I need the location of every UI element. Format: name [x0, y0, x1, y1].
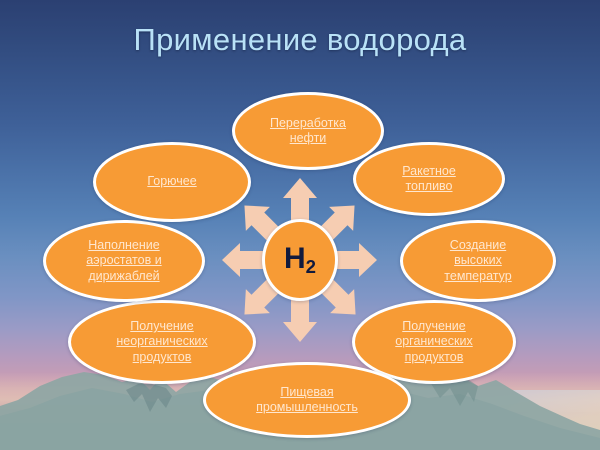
node-line: дирижаблей	[86, 269, 161, 284]
hydrogen-applications-diagram: H2 Переработка нефти Ракетное топливо Со…	[0, 0, 600, 450]
node-line: продуктов	[395, 350, 472, 365]
arrow-right	[336, 243, 377, 277]
node-line: Создание	[444, 238, 511, 253]
node-line: Пищевая	[256, 385, 358, 400]
slide-canvas: Применение водорода	[0, 0, 600, 450]
node-line: Ракетное	[402, 164, 456, 179]
hub-formula-subscript: 2	[306, 256, 316, 277]
node-napolnenie-aerostatov-i-dirizhabley[interactable]: Наполнение аэростатов и дирижаблей	[43, 220, 205, 302]
node-line: Наполнение	[86, 238, 161, 253]
node-poluchenie-neorganicheskih-produktov[interactable]: Получение неорганических продуктов	[68, 300, 256, 384]
node-line: нефти	[270, 131, 346, 146]
node-line: Переработка	[270, 116, 346, 131]
node-pishchevaya-promyshlennost[interactable]: Пищевая промышленность	[203, 362, 411, 438]
node-pererabotka-nefti[interactable]: Переработка нефти	[232, 92, 384, 170]
arrow-up	[283, 178, 317, 222]
node-line: высоких	[444, 253, 511, 268]
node-sozdanie-vysokih-temperatur[interactable]: Создание высоких температур	[400, 220, 556, 302]
hub-formula: H2	[284, 244, 316, 277]
node-line: температур	[444, 269, 511, 284]
node-line: продуктов	[116, 350, 207, 365]
node-goryuchee[interactable]: Горючее	[93, 142, 251, 222]
node-line: Получение	[395, 319, 472, 334]
node-line: Получение	[116, 319, 207, 334]
node-line: промышленность	[256, 400, 358, 415]
arrow-down	[283, 298, 317, 342]
hub-h2[interactable]: H2	[262, 219, 338, 301]
node-line: органических	[395, 334, 472, 349]
node-line: Горючее	[147, 174, 196, 189]
node-line: аэростатов и	[86, 253, 161, 268]
node-line: топливо	[402, 179, 456, 194]
node-raketnoe-toplivo[interactable]: Ракетное топливо	[353, 142, 505, 216]
node-line: неорганических	[116, 334, 207, 349]
hub-formula-base: H	[284, 242, 306, 275]
arrow-left	[222, 243, 263, 277]
